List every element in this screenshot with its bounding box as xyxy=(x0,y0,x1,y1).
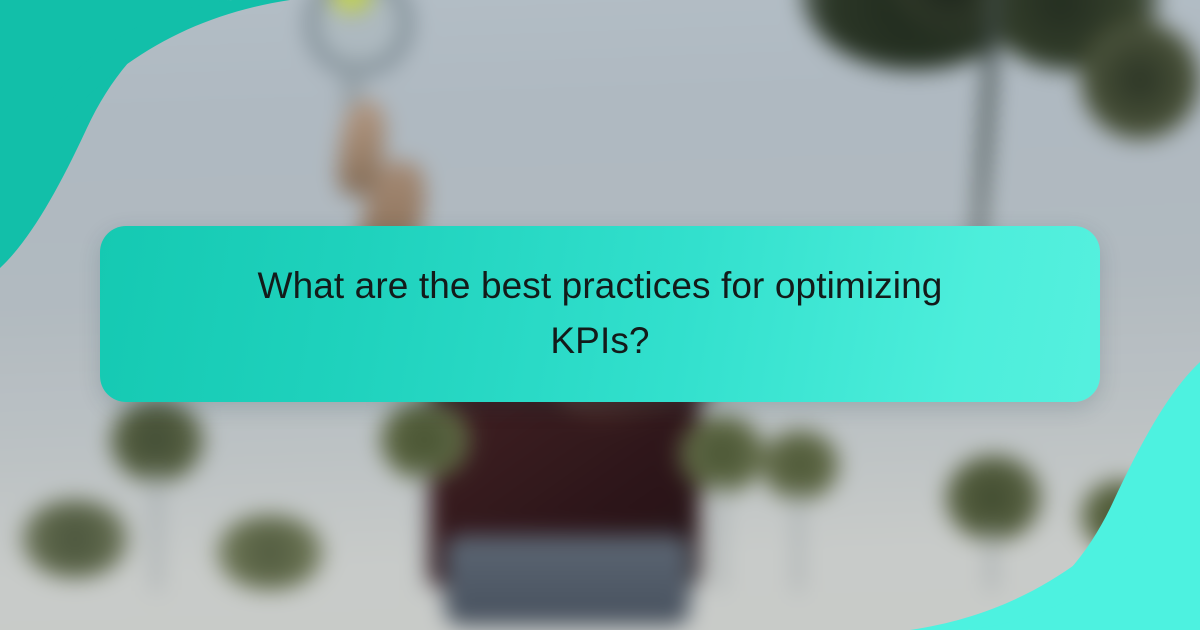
question-card[interactable]: What are the best practices for optimizi… xyxy=(100,226,1100,402)
foliage-blob xyxy=(1080,20,1200,140)
shrub-trunk xyxy=(794,490,802,592)
shrub xyxy=(20,500,130,590)
shrub xyxy=(945,455,1043,590)
shrub-crown xyxy=(1080,480,1160,552)
shrub-trunk xyxy=(152,470,161,590)
shrub-trunk xyxy=(716,481,724,591)
shrub xyxy=(380,400,472,590)
person-jeans xyxy=(445,535,690,625)
shrub xyxy=(678,415,766,590)
promo-graphic: What are the best practices for optimizi… xyxy=(0,0,1200,630)
shrub xyxy=(215,515,325,595)
question-text: What are the best practices for optimizi… xyxy=(230,259,970,369)
shrub-trunk xyxy=(420,468,428,590)
shrub xyxy=(1080,480,1160,590)
shrub-trunk xyxy=(987,529,996,591)
shrub-crown xyxy=(215,515,325,590)
shrub-crown xyxy=(20,500,130,578)
shrub xyxy=(760,430,840,590)
